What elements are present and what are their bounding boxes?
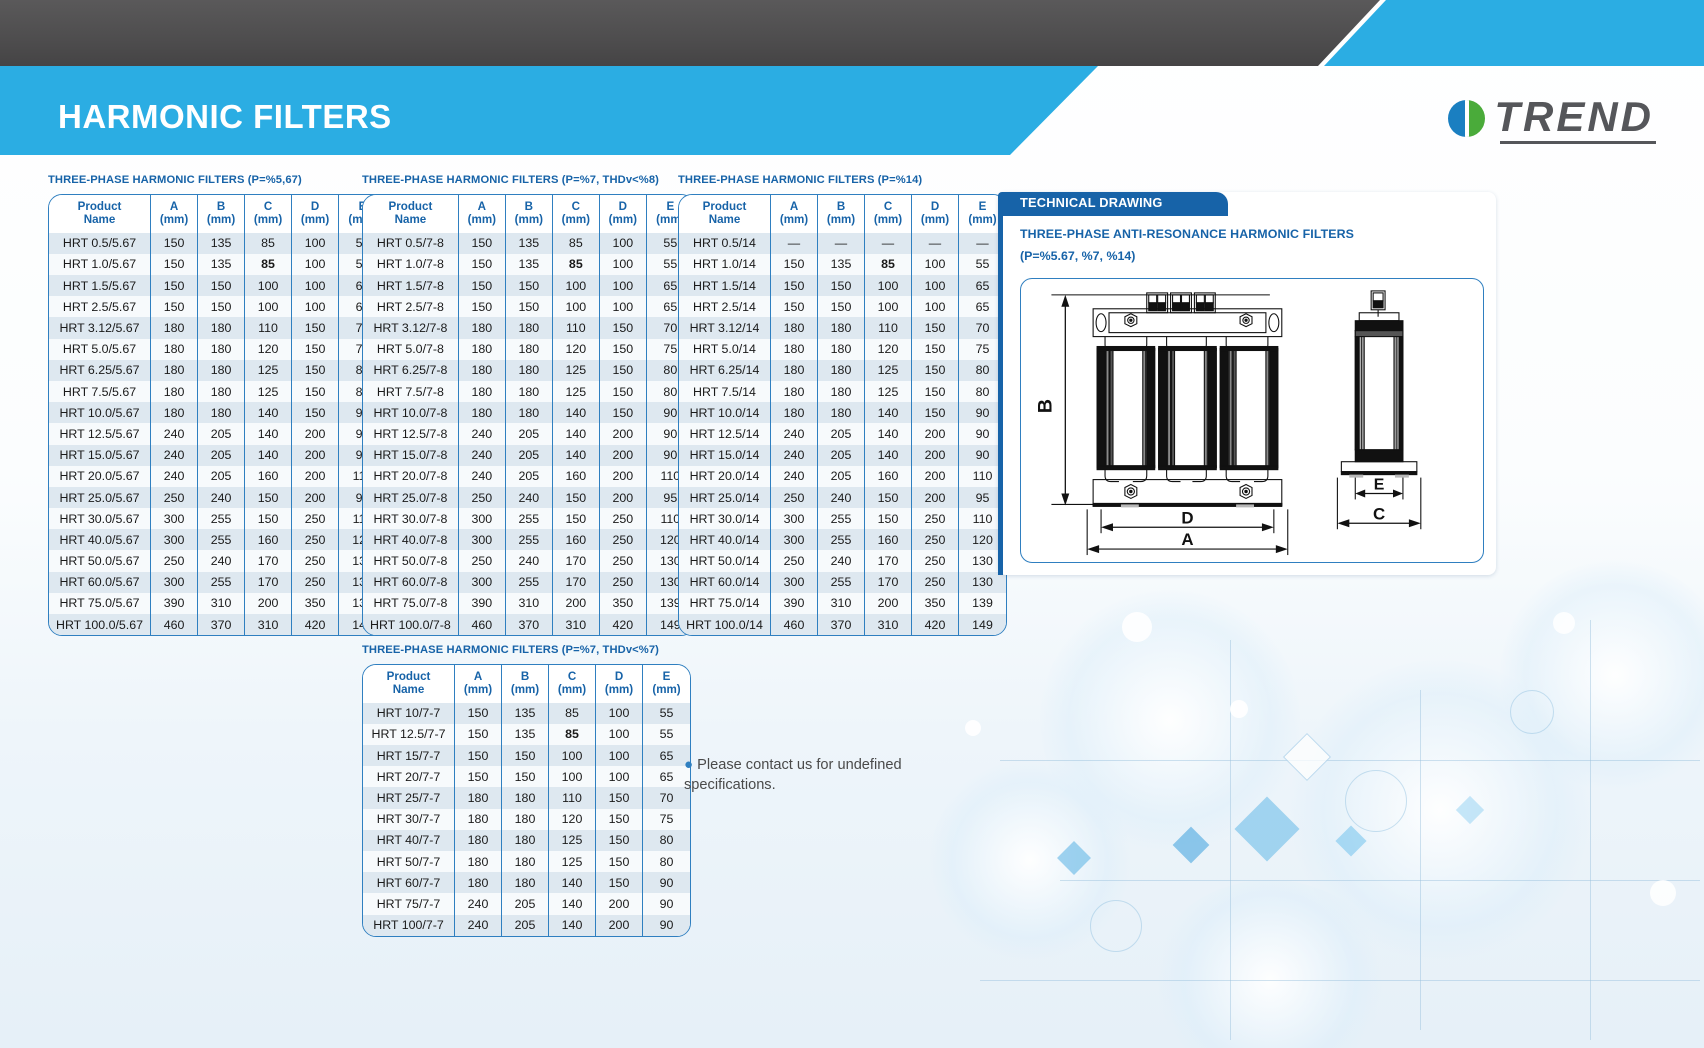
dimension-cell: 200 [596,893,643,914]
dimension-cell: 200 [292,445,339,466]
dimension-cell: 180 [818,339,865,360]
table-block-p7-thdv7: THREE-PHASE HARMONIC FILTERS (P=%7, THDv… [362,644,691,937]
product-name-cell: HRT 40.0/5.67 [49,529,151,550]
column-header: C (mm) [245,195,292,233]
product-name-cell: HRT 20.0/5.67 [49,466,151,487]
dimension-cell: 300 [771,529,818,550]
panel-left-accent [998,216,1003,575]
product-name-cell: HRT 0.5/14 [679,233,771,254]
table-row: HRT 0.5/14————— [679,233,1006,254]
product-name-cell: HRT 75/7-7 [363,893,455,914]
product-name-cell: HRT 7.5/14 [679,381,771,402]
table-row: HRT 75/7-724020514020090 [363,893,690,914]
dimension-cell: 100 [553,275,600,296]
dimension-cell: 140 [553,423,600,444]
dimension-cell: 160 [245,466,292,487]
dimension-cell: 100 [553,296,600,317]
table-row: HRT 25/7-718018011015070 [363,787,690,808]
dimension-cell: 55 [643,703,690,724]
table-row: HRT 0.5/5.671501358510055 [49,233,386,254]
product-name-cell: HRT 75.0/5.67 [49,593,151,614]
dimension-cell: 150 [553,508,600,529]
product-name-cell: HRT 3.12/14 [679,317,771,338]
table-row: HRT 25.0/1425024015020095 [679,487,1006,508]
dimension-cell: 250 [459,550,506,571]
dimension-cell: 170 [553,572,600,593]
dimension-cell: 250 [600,529,647,550]
table-header-row: ProductNameA (mm)B (mm)C (mm)D (mm)E (mm… [363,665,690,703]
table-row: HRT 6.25/7-818018012515080 [363,360,694,381]
product-name-cell: HRT 12.5/7-8 [363,423,459,444]
dimension-cell: 350 [912,593,959,614]
dimension-cell: 255 [818,508,865,529]
dimension-cell: 140 [865,445,912,466]
dimension-cell: 200 [292,487,339,508]
product-name-cell: HRT 5.0/7-8 [363,339,459,360]
dimension-cell: 180 [818,402,865,423]
product-name-cell: HRT 75.0/7-8 [363,593,459,614]
dimension-cell: 170 [553,550,600,571]
dimension-cell: 460 [151,614,198,635]
dimension-cell: 300 [151,529,198,550]
table-block-p7-thdv8: THREE-PHASE HARMONIC FILTERS (P=%7, THDv… [362,174,695,636]
dimension-cell: 200 [912,423,959,444]
dim-label-c: C [1373,504,1385,523]
product-name-cell: HRT 15.0/14 [679,445,771,466]
dimension-cell: 180 [198,381,245,402]
product-name-cell: HRT 1.5/5.67 [49,275,151,296]
dimension-cell: 125 [553,381,600,402]
logo-wordmark: TREND [1494,96,1654,141]
dimension-cell: 85 [549,703,596,724]
dimension-cell: 100 [912,254,959,275]
dimension-cell: 135 [506,233,553,254]
dimension-cell: 110 [553,317,600,338]
contact-note: ● Please contact us for undefined specif… [684,755,964,795]
dimension-cell: 120 [549,809,596,830]
dimension-cell: 170 [865,550,912,571]
dimension-cell: 135 [502,724,549,745]
dimension-cell: 100 [549,745,596,766]
dimension-cell: 100 [292,275,339,296]
dimension-cell: 255 [198,572,245,593]
dimension-cell: 140 [245,402,292,423]
product-name-cell: HRT 0.5/7-8 [363,233,459,254]
dimension-cell: 180 [455,851,502,872]
product-name-cell: HRT 50/7-7 [363,851,455,872]
product-name-cell: HRT 75.0/14 [679,593,771,614]
dimension-cell: 140 [549,915,596,936]
dimension-cell: 310 [553,614,600,635]
dimension-cell: 255 [506,508,553,529]
dimension-cell: 65 [643,766,690,787]
dimension-cell: 150 [502,745,549,766]
dimension-cell: 300 [459,529,506,550]
dimension-cell: 150 [292,381,339,402]
product-name-cell: HRT 1.5/14 [679,275,771,296]
product-name-cell: HRT 30.0/14 [679,508,771,529]
dimension-cell: 310 [245,614,292,635]
dimension-cell: 150 [912,402,959,423]
dimension-cell: 160 [553,529,600,550]
dim-label-a: A [1181,530,1193,549]
dimension-cell: 255 [198,508,245,529]
dimension-cell: 85 [549,724,596,745]
dimension-cell: 200 [912,445,959,466]
product-name-cell: HRT 1.5/7-8 [363,275,459,296]
dimension-cell: 180 [818,360,865,381]
product-name-cell: HRT 60.0/7-8 [363,572,459,593]
dimension-cell: 255 [198,529,245,550]
table-row: HRT 60/7-718018014015090 [363,872,690,893]
dimension-cell: 150 [292,339,339,360]
dimension-cell: 150 [459,296,506,317]
dimension-cell: 150 [596,809,643,830]
dimension-cell: 460 [459,614,506,635]
dimension-cell: 150 [502,766,549,787]
table-block-p14: THREE-PHASE HARMONIC FILTERS (P=%14) Pro… [678,174,1007,636]
dimension-cell: 250 [912,572,959,593]
dimension-cell: 205 [198,466,245,487]
dimension-cell: 100 [596,703,643,724]
dimension-cell: 180 [151,317,198,338]
table-row: HRT 40.0/5.67300255160250120 [49,529,386,550]
dimension-cell: 85 [245,254,292,275]
product-name-cell: HRT 15.0/7-8 [363,445,459,466]
table-row: HRT 50.0/5.67250240170250130 [49,550,386,571]
table-row: HRT 3.12/5.6718018011015070 [49,317,386,338]
table-row: HRT 6.25/1418018012515080 [679,360,1006,381]
table-row: HRT 60.0/7-8300255170250130 [363,572,694,593]
dimension-cell: 390 [459,593,506,614]
dimension-cell: 240 [459,445,506,466]
dimension-cell: 205 [506,445,553,466]
product-name-cell: HRT 60/7-7 [363,872,455,893]
dimension-cell: 150 [455,745,502,766]
product-name-cell: HRT 7.5/7-8 [363,381,459,402]
table-title: THREE-PHASE HARMONIC FILTERS (P=%14) [678,174,1007,186]
dimension-cell: 120 [865,339,912,360]
table-header-row: ProductNameA (mm)B (mm)C (mm)D (mm)E (mm… [49,195,386,233]
dimension-cell: 135 [818,254,865,275]
product-name-cell: HRT 40.0/7-8 [363,529,459,550]
dimension-cell: 150 [151,233,198,254]
dimension-cell: 150 [596,830,643,851]
dimension-cell: 85 [553,233,600,254]
dimension-cell: 300 [771,508,818,529]
dimension-cell: 140 [549,893,596,914]
dimension-cell: 150 [459,275,506,296]
dimension-cell: 85 [245,233,292,254]
table-row: HRT 12.5/5.6724020514020090 [49,423,386,444]
dimension-cell: 310 [818,593,865,614]
dimension-cell: 200 [912,466,959,487]
dimension-cell: 100 [865,275,912,296]
dimension-cell: 100 [292,254,339,275]
dimension-cell: 170 [865,572,912,593]
dimension-cell: 370 [506,614,553,635]
table-row: HRT 15.0/5.6724020514020090 [49,445,386,466]
dimension-cell: 180 [459,339,506,360]
dimension-cell: 150 [198,296,245,317]
dimension-cell: 150 [818,296,865,317]
dimension-cell: 140 [549,872,596,893]
dimension-cell: 205 [198,423,245,444]
table-row: HRT 40.0/7-8300255160250120 [363,529,694,550]
dimension-cell: 140 [865,402,912,423]
column-header: A (mm) [459,195,506,233]
dimension-cell: 150 [455,724,502,745]
dimension-cell: 150 [292,317,339,338]
product-name-cell: HRT 6.25/5.67 [49,360,151,381]
dimension-cell: 200 [865,593,912,614]
product-name-cell: HRT 5.0/5.67 [49,339,151,360]
dimension-cell: 250 [292,529,339,550]
dimension-cell: 150 [596,787,643,808]
dimension-cell: 300 [151,508,198,529]
dimension-cell: 420 [912,614,959,635]
dimension-cell: 180 [506,381,553,402]
column-header: C (mm) [865,195,912,233]
product-name-cell: HRT 15.0/5.67 [49,445,151,466]
dimension-cell: 160 [245,529,292,550]
product-name-cell: HRT 7.5/5.67 [49,381,151,402]
product-name-cell: HRT 1.0/7-8 [363,254,459,275]
spec-table: ProductNameA (mm)B (mm)C (mm)D (mm)E (mm… [362,194,695,636]
dimension-cell: 240 [818,487,865,508]
dimension-cell: 255 [506,572,553,593]
table-row: HRT 50.0/14250240170250130 [679,550,1006,571]
dimension-cell: 200 [600,487,647,508]
technical-drawing-subtitle-2: (P=%5.67, %7, %14) [1020,249,1135,263]
dimension-cell: 180 [459,402,506,423]
dimension-cell: 125 [865,360,912,381]
table-row: HRT 30.0/5.67300255150250110 [49,508,386,529]
dimension-cell: 255 [818,529,865,550]
dimension-cell: 460 [771,614,818,635]
product-name-cell: HRT 30.0/5.67 [49,508,151,529]
table-row: HRT 25.0/7-825024015020095 [363,487,694,508]
table-row: HRT 1.5/1415015010010065 [679,275,1006,296]
column-header: B (mm) [502,665,549,703]
table-row: HRT 1.5/5.6715015010010065 [49,275,386,296]
dimension-cell: 250 [292,508,339,529]
dimension-cell: 125 [245,360,292,381]
product-name-cell: HRT 50.0/14 [679,550,771,571]
dimension-cell: 100 [596,724,643,745]
dimension-cell: 250 [292,572,339,593]
table-row: HRT 10/7-71501358510055 [363,703,690,724]
dim-label-b: B [1034,399,1056,413]
product-name-cell: HRT 40/7-7 [363,830,455,851]
dimension-cell: 200 [600,445,647,466]
product-name-cell: HRT 50.0/5.67 [49,550,151,571]
dimension-cell: 180 [455,787,502,808]
dimension-cell: 240 [459,423,506,444]
dimension-cell: 200 [912,487,959,508]
dimension-cell: 390 [151,593,198,614]
dimension-cell: 180 [151,339,198,360]
dimension-cell: 150 [600,381,647,402]
table-row: HRT 20/7-715015010010065 [363,766,690,787]
table-row: HRT 100.0/7-8460370310420149 [363,614,694,635]
table-row: HRT 10.0/1418018014015090 [679,402,1006,423]
dimension-cell: 240 [771,445,818,466]
dimension-cell: 180 [198,317,245,338]
column-header: ProductName [363,665,455,703]
product-name-cell: HRT 20.0/14 [679,466,771,487]
column-header: A (mm) [771,195,818,233]
dimension-cell: 250 [600,508,647,529]
dimension-cell: 370 [818,614,865,635]
dimension-cell: — [865,233,912,254]
dimension-cell: 205 [502,915,549,936]
dimension-cell: 110 [549,787,596,808]
product-name-cell: HRT 100/7-7 [363,915,455,936]
column-header: C (mm) [549,665,596,703]
table-row: HRT 50/7-718018012515080 [363,851,690,872]
dimension-cell: 180 [455,830,502,851]
product-name-cell: HRT 30.0/7-8 [363,508,459,529]
dimension-cell: 180 [771,381,818,402]
spec-table: ProductNameA (mm)B (mm)C (mm)D (mm)E (mm… [678,194,1007,636]
table-row: HRT 60.0/5.67300255170250130 [49,572,386,593]
dimension-cell: 180 [502,872,549,893]
dimension-cell: 140 [865,423,912,444]
dimension-cell: 120 [553,339,600,360]
product-name-cell: HRT 20/7-7 [363,766,455,787]
dimension-cell: 350 [600,593,647,614]
dimension-cell: 150 [771,275,818,296]
table-title: THREE-PHASE HARMONIC FILTERS (P=%5,67) [48,174,387,186]
column-header: D (mm) [292,195,339,233]
table-row: HRT 40.0/14300255160250120 [679,529,1006,550]
dimension-cell: 255 [506,529,553,550]
dimension-cell: 139 [959,593,1006,614]
dimension-cell: 180 [506,402,553,423]
dimension-cell: 180 [502,830,549,851]
dimension-cell: 100 [865,296,912,317]
column-header: A (mm) [151,195,198,233]
dimension-cell: 160 [865,529,912,550]
dimension-cell: 150 [459,254,506,275]
dimension-cell: 205 [818,466,865,487]
dimension-cell: 110 [865,317,912,338]
column-header: ProductName [679,195,771,233]
product-name-cell: HRT 2.5/14 [679,296,771,317]
dimension-cell: 150 [912,317,959,338]
column-header: A (mm) [455,665,502,703]
dimension-cell: 205 [506,423,553,444]
dimension-cell: 200 [245,593,292,614]
product-name-cell: HRT 2.5/7-8 [363,296,459,317]
dimension-cell: 300 [459,572,506,593]
dimension-cell: 140 [553,402,600,423]
dimension-cell: 250 [151,550,198,571]
table-row: HRT 10.0/5.6718018014015090 [49,402,386,423]
dimension-cell: 205 [502,893,549,914]
table-row: HRT 2.5/1415015010010065 [679,296,1006,317]
dimension-cell: 80 [643,851,690,872]
dimension-cell: 240 [506,550,553,571]
dimension-cell: 250 [600,572,647,593]
product-name-cell: HRT 10.0/5.67 [49,402,151,423]
product-name-cell: HRT 100.0/7-8 [363,614,459,635]
dimension-cell: 100 [600,296,647,317]
dimension-cell: 150 [198,275,245,296]
dimension-cell: 150 [771,254,818,275]
page-title: HARMONIC FILTERS [58,98,392,136]
column-header: B (mm) [818,195,865,233]
product-name-cell: HRT 3.12/7-8 [363,317,459,338]
dimension-cell: 300 [459,508,506,529]
table-row: HRT 20.0/14240205160200110 [679,466,1006,487]
table-row: HRT 30/7-718018012015075 [363,809,690,830]
product-name-cell: HRT 60.0/5.67 [49,572,151,593]
dimension-cell: 390 [771,593,818,614]
product-name-cell: HRT 30/7-7 [363,809,455,830]
product-name-cell: HRT 6.25/7-8 [363,360,459,381]
dimension-cell: 250 [771,550,818,571]
dimension-cell: 135 [502,703,549,724]
table-row: HRT 2.5/7-815015010010065 [363,296,694,317]
product-name-cell: HRT 12.5/14 [679,423,771,444]
table-row: HRT 5.0/7-818018012015075 [363,339,694,360]
dimension-cell: 110 [245,317,292,338]
product-name-cell: HRT 100.0/5.67 [49,614,151,635]
dimension-cell: 85 [865,254,912,275]
product-name-cell: HRT 25/7-7 [363,787,455,808]
dimension-cell: 125 [549,851,596,872]
dimension-cell: 100 [292,296,339,317]
dimension-cell: 90 [643,872,690,893]
product-name-cell: HRT 10/7-7 [363,703,455,724]
dimension-cell: 150 [596,851,643,872]
product-name-cell: HRT 12.5/7-7 [363,724,455,745]
table-row: HRT 12.5/7-824020514020090 [363,423,694,444]
dimension-cell: 150 [912,381,959,402]
dimension-cell: 180 [151,402,198,423]
dimension-cell: 180 [771,317,818,338]
dimension-cell: 100 [245,275,292,296]
contact-note-text: Please contact us for undefined specific… [684,757,902,793]
column-header: E (mm) [643,665,690,703]
table-row: HRT 3.12/7-818018011015070 [363,317,694,338]
dimension-cell: 180 [151,360,198,381]
table-row: HRT 100/7-724020514020090 [363,915,690,936]
logo-circle-icon [1448,100,1485,137]
dimension-cell: 85 [553,254,600,275]
spec-table: ProductNameA (mm)B (mm)C (mm)D (mm)E (mm… [362,664,691,937]
dimension-cell: 100 [596,766,643,787]
dimension-cell: 205 [818,445,865,466]
dimension-cell: 150 [818,275,865,296]
reactor-drawing-svg: B [1021,279,1483,562]
dimension-cell: 240 [506,487,553,508]
product-name-cell: HRT 15/7-7 [363,745,455,766]
dimension-cell: 240 [818,550,865,571]
product-name-cell: HRT 25.0/5.67 [49,487,151,508]
table-header-row: ProductNameA (mm)B (mm)C (mm)D (mm)E (mm… [363,195,694,233]
table-row: HRT 7.5/7-818018012515080 [363,381,694,402]
dimension-cell: 100 [596,745,643,766]
dimension-cell: 55 [643,724,690,745]
dimension-cell: 420 [292,614,339,635]
table-row: HRT 60.0/14300255170250130 [679,572,1006,593]
dimension-cell: 250 [912,550,959,571]
column-header: B (mm) [198,195,245,233]
dimension-cell: 240 [151,423,198,444]
